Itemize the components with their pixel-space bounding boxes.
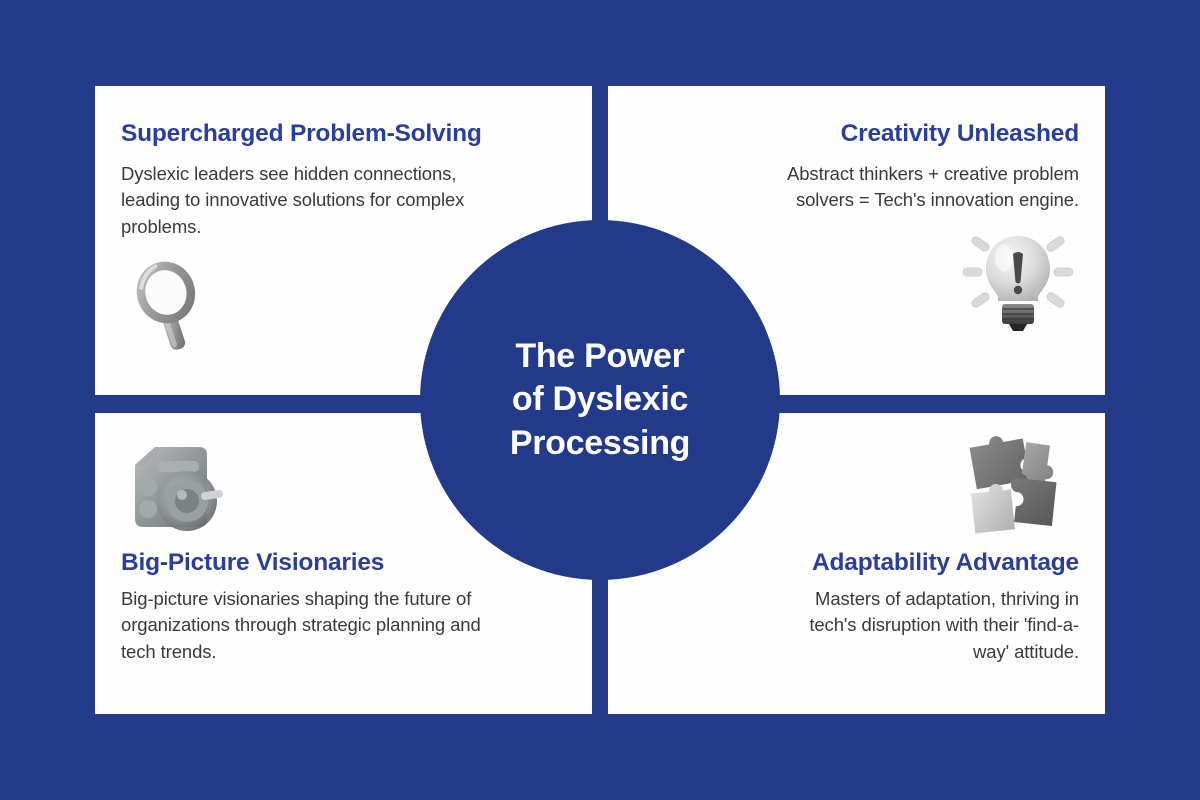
magnifying-glass-icon (121, 254, 217, 350)
movie-camera-icon (121, 435, 233, 539)
card-body: Dyslexic leaders see hidden connections,… (121, 161, 506, 240)
center-title: The Power of Dyslexic Processing (486, 335, 714, 466)
card-title: Supercharged Problem-Solving (121, 120, 482, 148)
lightbulb-icon (957, 228, 1079, 332)
center-circle: The Power of Dyslexic Processing (420, 220, 780, 580)
card-title: Creativity Unleashed (841, 120, 1079, 148)
infographic-canvas: Supercharged Problem-Solving Dyslexic le… (0, 0, 1200, 800)
card-body: Abstract thinkers + creative problem sol… (779, 161, 1079, 214)
puzzle-pieces-icon (963, 435, 1079, 539)
card-title: Big-Picture Visionaries (121, 549, 384, 577)
card-body: Masters of adaptation, thriving in tech'… (774, 586, 1079, 665)
card-body: Big-picture visionaries shaping the futu… (121, 586, 506, 665)
card-title: Adaptability Advantage (812, 549, 1079, 577)
